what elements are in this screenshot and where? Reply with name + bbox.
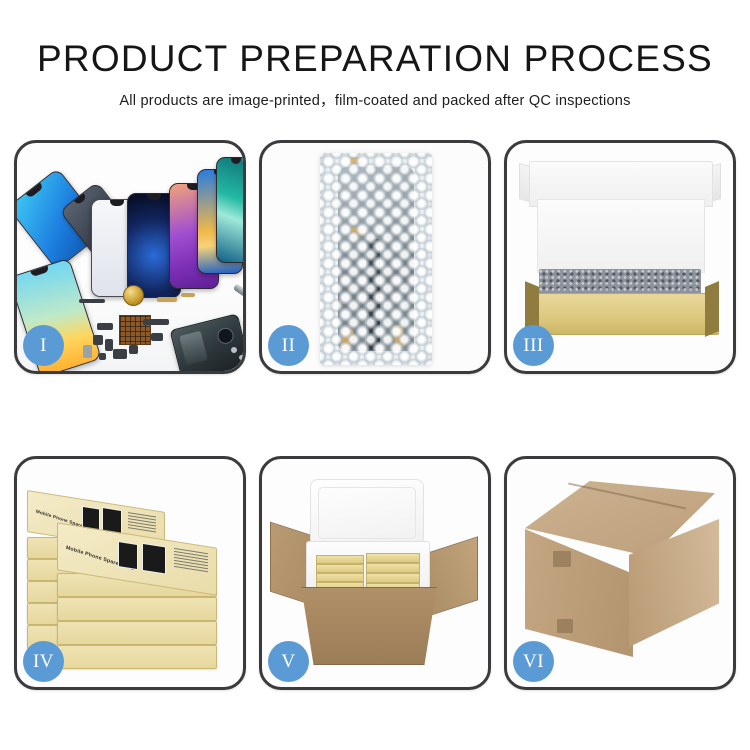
- content-box-3: [316, 573, 364, 582]
- box-inner-wall: [537, 199, 705, 273]
- step-badge-3: III: [513, 325, 554, 366]
- screwdriver-icon: [233, 283, 243, 313]
- box-text-lines-front: [174, 548, 208, 574]
- part-screw-1: [231, 347, 237, 353]
- part-block-2: [105, 339, 113, 351]
- step-badge-1: I: [23, 325, 64, 366]
- part-strip-2: [97, 323, 113, 330]
- step-panel-3[interactable]: III: [504, 140, 736, 374]
- process-step-grid: I II: [14, 140, 736, 690]
- carton-tab-lower: [557, 619, 573, 633]
- infographic-page: PRODUCT PREPARATION PROCESS All products…: [0, 0, 750, 750]
- stacked-box-r4: [57, 645, 217, 669]
- part-flex-cable: [143, 319, 169, 325]
- carton-body: [292, 587, 446, 665]
- bubble-wrap-bag: [320, 153, 432, 365]
- step-panel-6[interactable]: VI: [504, 456, 736, 690]
- box-phone-image-3: [118, 541, 138, 570]
- part-block-5: [151, 333, 163, 341]
- part-connector-1: [157, 297, 177, 302]
- part-block-1: [93, 335, 103, 345]
- bubble-texture: [320, 153, 432, 365]
- phone-back-housing: [170, 313, 243, 371]
- carton-tab-upper: [553, 551, 571, 567]
- content-box-5: [366, 553, 420, 563]
- kraft-box-tray: [525, 293, 719, 335]
- part-sim-tray: [83, 345, 92, 358]
- content-box-1: [316, 555, 364, 564]
- step-badge-6: VI: [513, 641, 554, 682]
- stacked-box-r2: [57, 597, 217, 621]
- page-title: PRODUCT PREPARATION PROCESS: [0, 40, 750, 79]
- phone-teal-wallpaper: [216, 157, 243, 263]
- vibration-motor-icon: [123, 285, 144, 306]
- stacked-box-r3: [57, 621, 217, 645]
- content-box-6: [366, 563, 420, 573]
- part-strip-1: [79, 299, 105, 303]
- page-subtitle: All products are image-printed，film-coat…: [0, 89, 750, 110]
- part-screw-2: [239, 355, 243, 360]
- spare-parts-cluster: [79, 283, 243, 371]
- part-block-4: [129, 345, 138, 354]
- box-text-lines-back: [128, 512, 156, 534]
- step-panel-5[interactable]: V: [259, 456, 491, 690]
- content-box-7: [366, 573, 420, 583]
- step-panel-4[interactable]: Mobile Phone Spare Parts Mobile Phone Sp…: [14, 456, 246, 690]
- content-box-2: [316, 564, 364, 573]
- part-block-3: [99, 353, 106, 360]
- box-phone-image-4: [142, 543, 166, 575]
- page-header: PRODUCT PREPARATION PROCESS All products…: [0, 0, 750, 110]
- step-panel-2[interactable]: II: [259, 140, 491, 374]
- step-badge-2: II: [268, 325, 309, 366]
- step-badge-4: IV: [23, 641, 64, 682]
- part-connector-2: [181, 293, 195, 297]
- step-panel-1[interactable]: I: [14, 140, 246, 374]
- part-speaker: [113, 349, 127, 359]
- step-badge-5: V: [268, 641, 309, 682]
- foam-box-lid: [310, 479, 424, 547]
